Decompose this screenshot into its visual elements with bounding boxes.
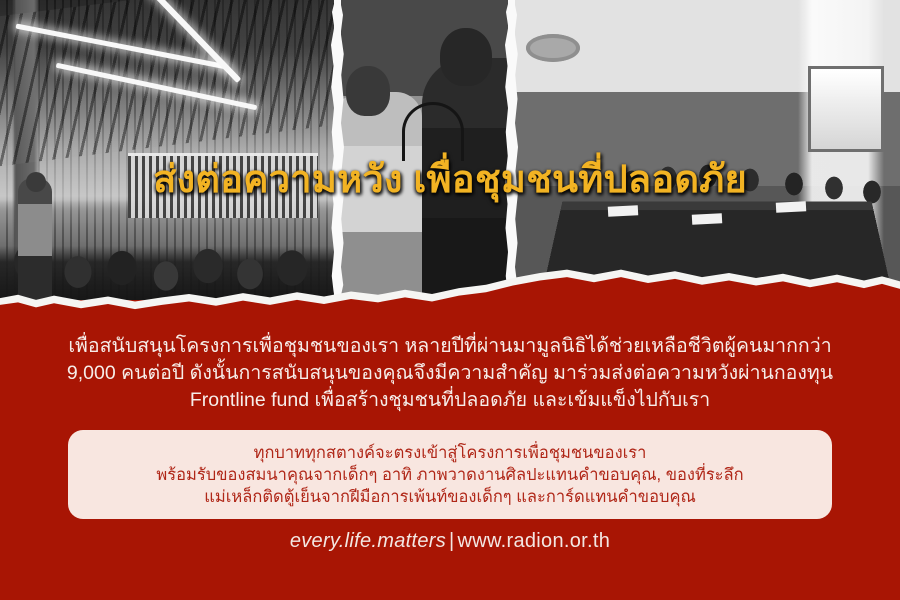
photo-panel-village-committee-meeting (512, 0, 900, 300)
paper-sheet (776, 201, 806, 213)
child-head (346, 66, 390, 116)
photo-panel-community-hall-meeting (0, 0, 342, 300)
intro-line-1: เพื่อสนับสนุนโครงการเพื่อชุมชนของเรา หลา… (50, 333, 850, 360)
perks-line-2: พร้อมรับของสมนาคุณจากเด็กๆ อาทิ ภาพวาดงา… (156, 464, 743, 486)
wall-fan-icon (526, 34, 580, 62)
hero-headline: ส่งต่อความหวัง เพื่อชุมชนที่ปลอดภัย (0, 160, 900, 202)
footer-separator: | (446, 530, 458, 552)
perks-text-block: ทุกบาททุกสตางค์จะตรงเข้าสู่โครงการเพื่อช… (156, 442, 743, 508)
intro-line-2: 9,000 คนต่อปี ดังนั้นการสนับสนุนของคุณจึ… (50, 360, 850, 387)
torn-paper-seam (334, 0, 341, 300)
torn-paper-seam (508, 0, 515, 300)
photo-panel-health-worker-with-child (336, 0, 518, 300)
window-pane (808, 66, 884, 152)
intro-paragraph: เพื่อสนับสนุนโครงการเพื่อชุมชนของเรา หลา… (50, 333, 850, 414)
perks-card: ทุกบาททุกสตางค์จะตรงเข้าสู่โครงการเพื่อช… (68, 430, 832, 519)
poster-canvas: ส่งต่อความหวัง เพื่อชุมชนที่ปลอดภัย เพื่… (0, 0, 900, 600)
paper-sheet (608, 205, 638, 217)
perks-line-1: ทุกบาททุกสตางค์จะตรงเข้าสู่โครงการเพื่อช… (156, 442, 743, 464)
intro-line-3: Frontline fund เพื่อสร้างชุมชนที่ปลอดภัย… (50, 387, 850, 414)
tagline-text: every.life.matters (290, 530, 446, 552)
paper-sheet (692, 213, 722, 225)
perks-line-3: แม่เหล็กติดตู้เย็นจากฝีมือการเพ้นท์ของเด… (156, 486, 743, 508)
health-worker-head (440, 28, 492, 86)
stethoscope-icon (402, 102, 464, 161)
hero-photo-band (0, 0, 900, 300)
footer-bar: every.life.matters|www.radion.or.th (0, 530, 900, 553)
website-url[interactable]: www.radion.or.th (458, 530, 611, 552)
